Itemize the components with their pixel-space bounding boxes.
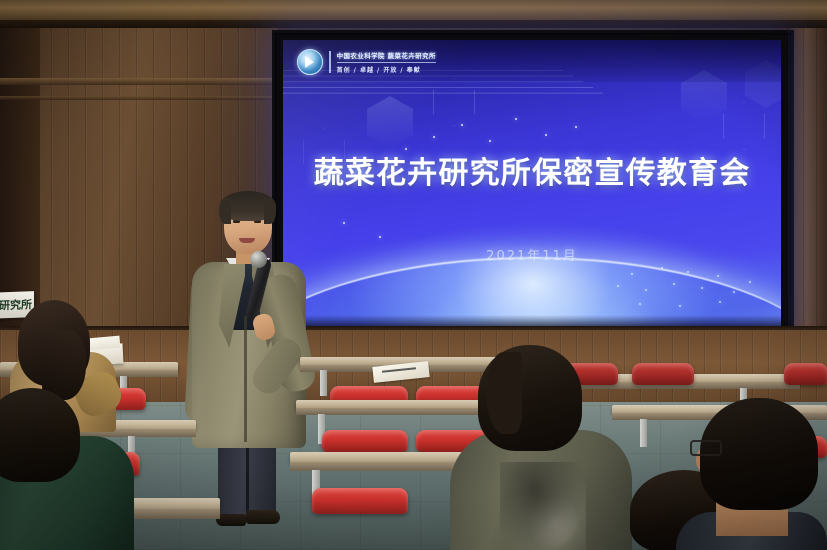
logo-divider	[329, 51, 331, 73]
ceiling	[0, 0, 827, 22]
network-dots-decor	[609, 255, 759, 317]
projection-screen: 中国农业科学院 蔬菜花卉研究所 首创 / 卓越 / 开放 / 奉献 蔬菜花卉研究…	[283, 40, 781, 331]
microphone-head	[250, 251, 267, 268]
logo-line-1: 中国农业科学院 蔬菜花卉研究所	[337, 50, 436, 60]
wall-trim-upper	[0, 78, 278, 85]
speaker-shoe-right	[246, 510, 280, 524]
hexagon-decor	[723, 102, 765, 150]
institute-logo: 中国农业科学院 蔬菜花卉研究所 首创 / 卓越 / 开放 / 奉献	[297, 49, 436, 75]
speaker-shoe-left	[216, 514, 246, 526]
play-badge-icon	[297, 49, 323, 75]
venue-sign-text: 研究所	[0, 296, 32, 313]
speaker	[186, 196, 310, 526]
slide-title: 蔬菜花卉研究所保密宣传教育会	[283, 148, 781, 192]
logo-line-2: 首创 / 卓越 / 开放 / 奉献	[337, 62, 436, 74]
glasses-icon	[690, 440, 722, 456]
conference-room-photo: 研究所 中国农业科学院 蔬菜花卉研究所	[0, 0, 827, 550]
wall-trim-lower	[0, 96, 278, 100]
projection-screen-frame: 中国农业科学院 蔬菜花卉研究所 首创 / 卓越 / 开放 / 奉献 蔬菜花卉研究…	[272, 30, 794, 343]
